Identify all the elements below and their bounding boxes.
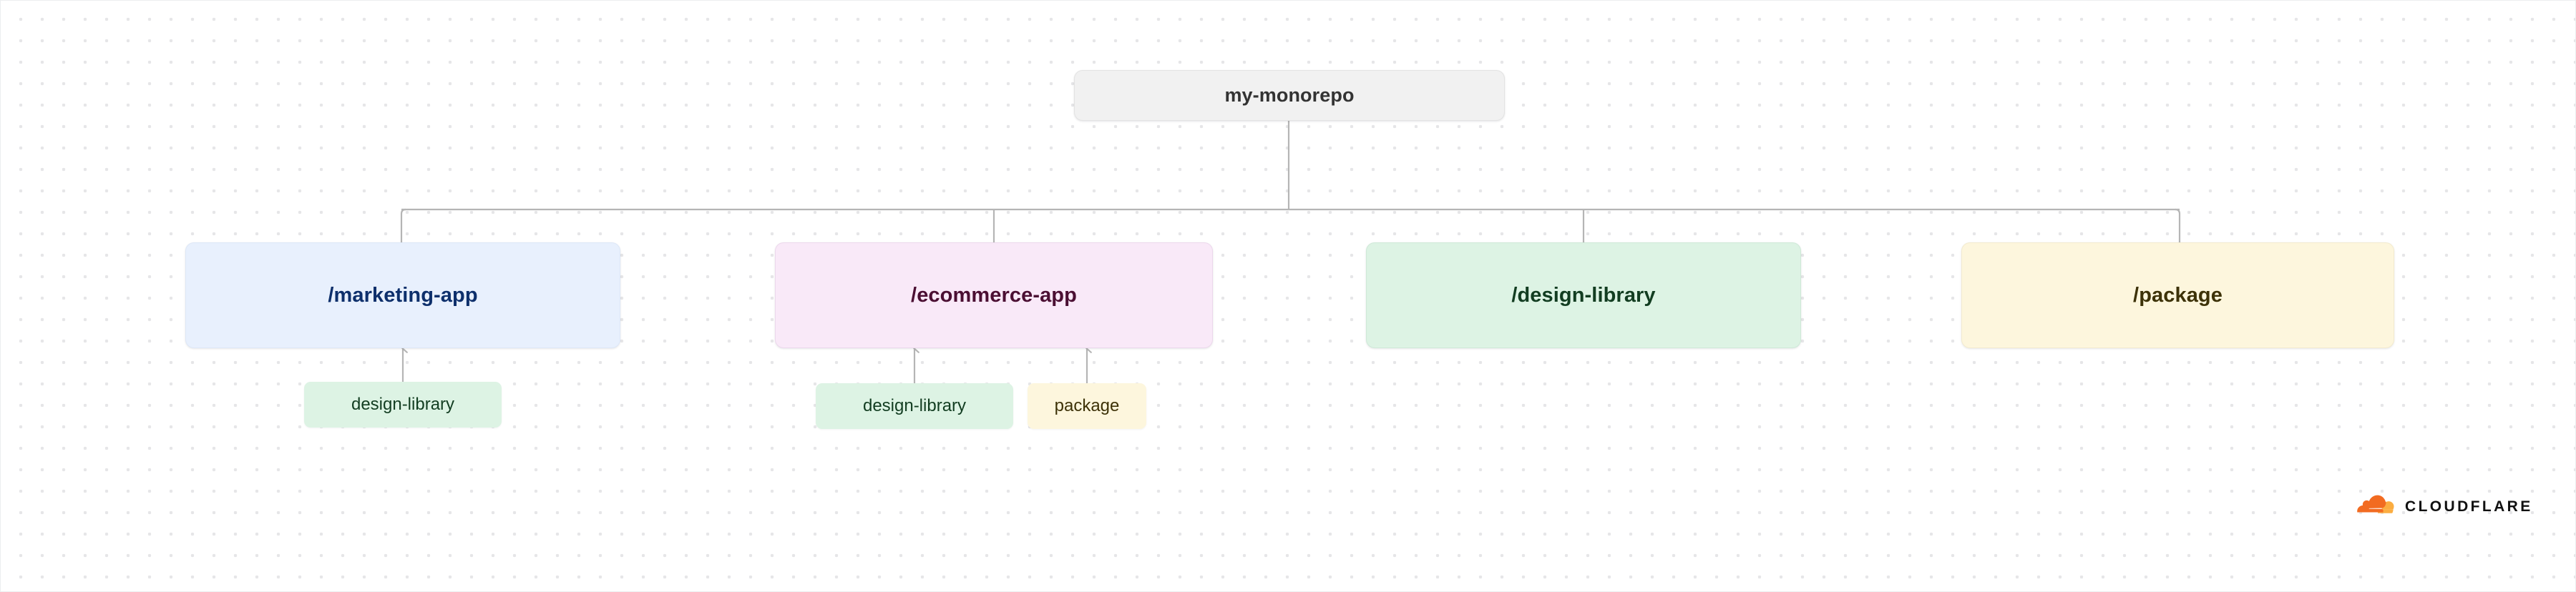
dependency-pill-ecommerce-package[interactable]: package — [1028, 383, 1146, 429]
node-design-library-label: /design-library — [1511, 284, 1655, 307]
dependency-pill-ecommerce-design-library[interactable]: design-library — [816, 383, 1013, 429]
node-ecommerce-app-label: /ecommerce-app — [911, 284, 1077, 307]
dependency-pill-label: design-library — [863, 396, 966, 416]
node-ecommerce-app[interactable]: /ecommerce-app — [775, 242, 1213, 348]
cloudflare-cloud-icon — [2356, 494, 2396, 518]
node-package[interactable]: /package — [1961, 242, 2394, 348]
node-marketing-app-label: /marketing-app — [328, 284, 477, 307]
dependency-pill-marketing-design-library[interactable]: design-library — [304, 382, 502, 428]
dependency-pill-label: package — [1055, 396, 1120, 416]
wire-drop-marketing — [401, 209, 406, 242]
dependency-pill-label: design-library — [351, 395, 454, 415]
node-marketing-app[interactable]: /marketing-app — [185, 242, 620, 348]
node-design-library[interactable]: /design-library — [1366, 242, 1801, 348]
cloudflare-logo: CLOUDFLARE — [2356, 494, 2533, 518]
node-my-monorepo[interactable]: my-monorepo — [1074, 70, 1505, 121]
wire-drop-package — [2175, 209, 2180, 242]
cloudflare-wordmark: CLOUDFLARE — [2405, 499, 2533, 514]
node-my-monorepo-label: my-monorepo — [1224, 84, 1354, 107]
diagram-canvas: my-monorepo /marketing-app /ecommerce-ap… — [0, 0, 2576, 592]
node-package-label: /package — [2133, 284, 2223, 307]
